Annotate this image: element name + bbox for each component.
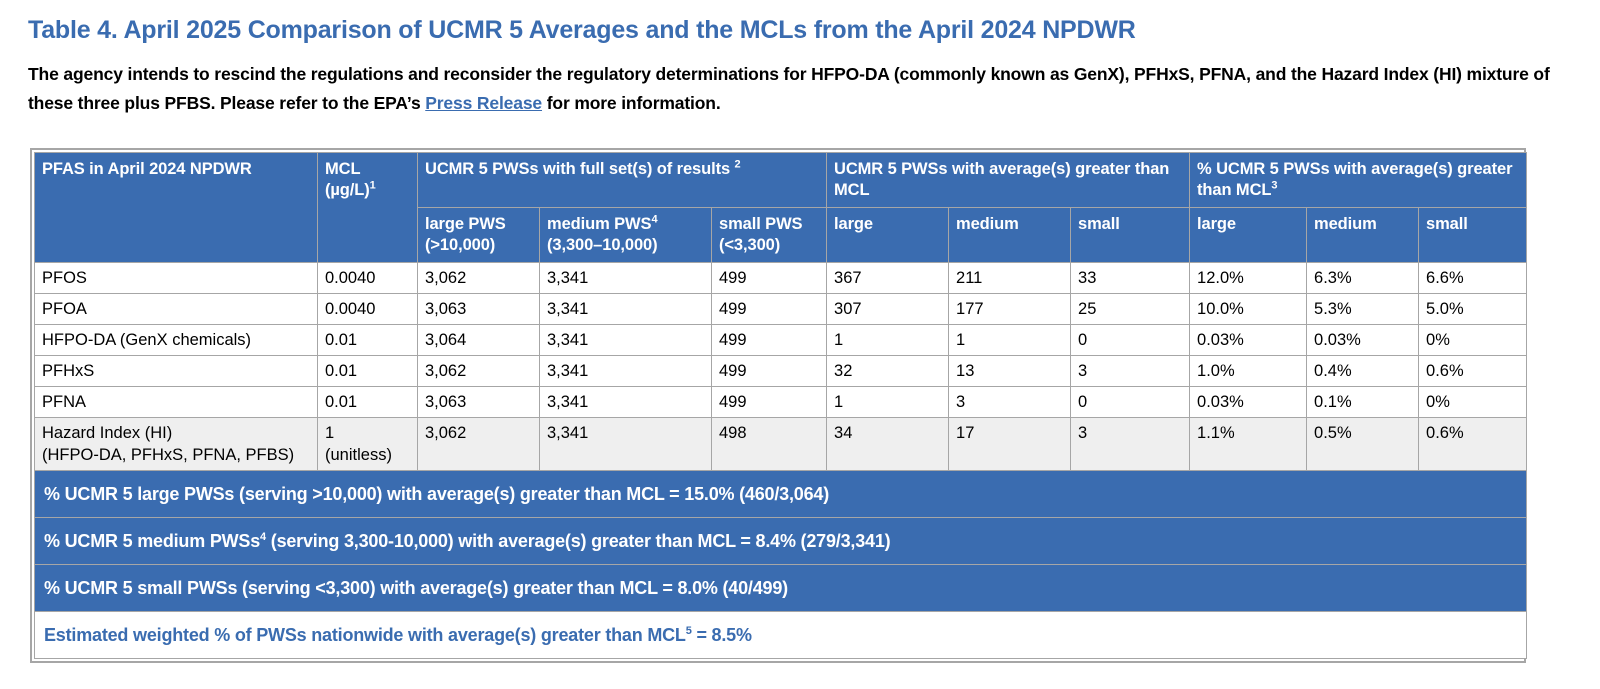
cell-gt-medium: 17 [949, 418, 1071, 471]
header-mcl: MCL(µg/L)1 [318, 153, 418, 263]
cell-full-medium: 3,341 [540, 325, 712, 356]
cell-full-small: 499 [712, 356, 827, 387]
cell-pfas-name: PFHxS [35, 356, 318, 387]
header-full-medium-pws-line2: (3,300–10,000) [547, 236, 658, 254]
header-mcl-line1: MCL [325, 160, 360, 178]
cell-pct-small: 0.6% [1419, 356, 1527, 387]
header-full-medium-pws-line1: medium PWS [547, 215, 651, 233]
table-head: PFAS in April 2024 NPDWR MCL(µg/L)1 UCMR… [35, 153, 1527, 263]
summary-cell-medium: % UCMR 5 medium PWSs4 (serving 3,300-10,… [35, 518, 1527, 565]
cell-gt-large: 34 [827, 418, 949, 471]
header-row-groups: PFAS in April 2024 NPDWR MCL(µg/L)1 UCMR… [35, 153, 1527, 208]
summary-large-pre: % UCMR 5 large PWSs (serving >10,000) wi… [44, 484, 829, 504]
table-row: Hazard Index (HI) (HFPO-DA, PFHxS, PFNA,… [35, 418, 1527, 471]
header-full-large-pws: large PWS(>10,000) [418, 208, 540, 263]
summary-row-weighted: Estimated weighted % of PWSs nationwide … [35, 612, 1527, 659]
cell-gt-medium: 1 [949, 325, 1071, 356]
cell-full-medium: 3,341 [540, 418, 712, 471]
cell-mcl: 0.01 [318, 356, 418, 387]
cell-gt-small: 3 [1071, 356, 1190, 387]
header-group-greater-than-mcl: UCMR 5 PWSs with average(s) greater than… [827, 153, 1190, 208]
cell-pct-small: 6.6% [1419, 263, 1527, 294]
subtitle-paragraph: The agency intends to rescind the regula… [28, 60, 1573, 118]
header-gt-large: large [827, 208, 949, 263]
cell-pct-large: 1.0% [1190, 356, 1307, 387]
cell-full-large: 3,062 [418, 263, 540, 294]
summary-row-medium: % UCMR 5 medium PWSs4 (serving 3,300-10,… [35, 518, 1527, 565]
table-row: PFOS 0.0040 3,062 3,341 499 367 211 33 1… [35, 263, 1527, 294]
summary-row-small: % UCMR 5 small PWSs (serving <3,300) wit… [35, 565, 1527, 612]
cell-pct-large: 1.1% [1190, 418, 1307, 471]
cell-pct-small: 0% [1419, 387, 1527, 418]
cell-gt-small: 25 [1071, 294, 1190, 325]
summary-row-large: % UCMR 5 large PWSs (serving >10,000) wi… [35, 471, 1527, 518]
cell-gt-large: 307 [827, 294, 949, 325]
cell-full-large: 3,063 [418, 294, 540, 325]
cell-pfas-name: PFNA [35, 387, 318, 418]
header-group-full-results: UCMR 5 PWSs with full set(s) of results … [418, 153, 827, 208]
page-root: Table 4. April 2025 Comparison of UCMR 5… [0, 0, 1600, 689]
cell-full-medium: 3,341 [540, 294, 712, 325]
header-full-small-pws-line2: (<3,300) [719, 236, 780, 254]
cell-pct-large: 12.0% [1190, 263, 1307, 294]
cell-gt-medium: 177 [949, 294, 1071, 325]
cell-gt-large: 1 [827, 325, 949, 356]
page-title: Table 4. April 2025 Comparison of UCMR 5… [28, 16, 1136, 45]
cell-pct-medium: 0.1% [1307, 387, 1419, 418]
header-gt-small: small [1071, 208, 1190, 263]
cell-full-small: 499 [712, 263, 827, 294]
cell-gt-small: 0 [1071, 387, 1190, 418]
cell-pfas-name: PFOA [35, 294, 318, 325]
header-mcl-footnote: 1 [370, 180, 376, 192]
cell-gt-large: 32 [827, 356, 949, 387]
cell-full-small: 499 [712, 325, 827, 356]
header-group-pct-text: % UCMR 5 PWSs with average(s) greater th… [1197, 160, 1512, 199]
summary-weighted-pre: Estimated weighted % of PWSs nationwide … [44, 625, 686, 645]
summary-weighted-post: = 8.5% [692, 625, 752, 645]
summary-medium-pre: % UCMR 5 medium PWSs [44, 531, 260, 551]
cell-mcl: 0.0040 [318, 294, 418, 325]
cell-gt-small: 0 [1071, 325, 1190, 356]
cell-pfas-name: Hazard Index (HI) (HFPO-DA, PFHxS, PFNA,… [35, 418, 318, 471]
cell-mcl: 0.01 [318, 325, 418, 356]
press-release-link[interactable]: Press Release [425, 93, 542, 113]
header-full-small-pws-line1: small PWS [719, 215, 802, 233]
cell-full-small: 499 [712, 294, 827, 325]
cell-gt-small: 3 [1071, 418, 1190, 471]
cell-mcl: 1 (unitless) [318, 418, 418, 471]
cell-pfas-name: HFPO-DA (GenX chemicals) [35, 325, 318, 356]
header-group-full-results-footnote: 2 [735, 159, 741, 171]
cell-full-small: 499 [712, 387, 827, 418]
summary-small-pre: % UCMR 5 small PWSs (serving <3,300) wit… [44, 578, 788, 598]
header-full-medium-pws-footnote: 4 [651, 214, 657, 226]
header-group-full-results-text: UCMR 5 PWSs with full set(s) of results [425, 160, 735, 178]
cell-full-large: 3,064 [418, 325, 540, 356]
table-row: PFNA 0.01 3,063 3,341 499 1 3 0 0.03% 0.… [35, 387, 1527, 418]
header-full-small-pws: small PWS(<3,300) [712, 208, 827, 263]
cell-pct-medium: 0.4% [1307, 356, 1419, 387]
summary-medium-post: (serving 3,300-10,000) with average(s) g… [266, 531, 890, 551]
header-full-medium-pws: medium PWS4(3,300–10,000) [540, 208, 712, 263]
cell-pct-large: 10.0% [1190, 294, 1307, 325]
comparison-table: PFAS in April 2024 NPDWR MCL(µg/L)1 UCMR… [34, 152, 1527, 659]
cell-pct-large: 0.03% [1190, 325, 1307, 356]
cell-gt-medium: 3 [949, 387, 1071, 418]
header-pct-small: small [1419, 208, 1527, 263]
comparison-table-container: PFAS in April 2024 NPDWR MCL(µg/L)1 UCMR… [30, 148, 1526, 663]
cell-full-small: 498 [712, 418, 827, 471]
cell-pct-medium: 5.3% [1307, 294, 1419, 325]
cell-full-large: 3,062 [418, 418, 540, 471]
header-mcl-line2: (µg/L) [325, 181, 370, 199]
header-group-pct-footnote: 3 [1271, 180, 1277, 192]
cell-gt-medium: 211 [949, 263, 1071, 294]
cell-full-medium: 3,341 [540, 356, 712, 387]
subtitle-text-before-link: The agency intends to rescind the regula… [28, 64, 1550, 113]
cell-pct-small: 5.0% [1419, 294, 1527, 325]
cell-pct-small: 0% [1419, 325, 1527, 356]
cell-gt-medium: 13 [949, 356, 1071, 387]
cell-pct-medium: 0.03% [1307, 325, 1419, 356]
cell-pct-medium: 6.3% [1307, 263, 1419, 294]
table-row: HFPO-DA (GenX chemicals) 0.01 3,064 3,34… [35, 325, 1527, 356]
cell-gt-large: 1 [827, 387, 949, 418]
cell-gt-large: 367 [827, 263, 949, 294]
summary-cell-small: % UCMR 5 small PWSs (serving <3,300) wit… [35, 565, 1527, 612]
cell-mcl: 0.0040 [318, 263, 418, 294]
summary-cell-weighted: Estimated weighted % of PWSs nationwide … [35, 612, 1527, 659]
header-full-large-pws-line2: (>10,000) [425, 236, 495, 254]
cell-full-large: 3,062 [418, 356, 540, 387]
cell-pct-large: 0.03% [1190, 387, 1307, 418]
header-group-pct-greater-than-mcl: % UCMR 5 PWSs with average(s) greater th… [1190, 153, 1527, 208]
subtitle-text-after-link: for more information. [542, 93, 721, 113]
cell-full-medium: 3,341 [540, 387, 712, 418]
cell-pct-medium: 0.5% [1307, 418, 1419, 471]
header-pct-large: large [1190, 208, 1307, 263]
cell-pfas-name: PFOS [35, 263, 318, 294]
table-body: PFOS 0.0040 3,062 3,341 499 367 211 33 1… [35, 263, 1527, 659]
summary-cell-large: % UCMR 5 large PWSs (serving >10,000) wi… [35, 471, 1527, 518]
table-row: PFOA 0.0040 3,063 3,341 499 307 177 25 1… [35, 294, 1527, 325]
cell-mcl: 0.01 [318, 387, 418, 418]
cell-pct-small: 0.6% [1419, 418, 1527, 471]
header-full-large-pws-line1: large PWS [425, 215, 506, 233]
header-pct-medium: medium [1307, 208, 1419, 263]
header-gt-medium: medium [949, 208, 1071, 263]
header-pfas: PFAS in April 2024 NPDWR [35, 153, 318, 263]
cell-full-medium: 3,341 [540, 263, 712, 294]
cell-gt-small: 33 [1071, 263, 1190, 294]
table-row: PFHxS 0.01 3,062 3,341 499 32 13 3 1.0% … [35, 356, 1527, 387]
cell-full-large: 3,063 [418, 387, 540, 418]
